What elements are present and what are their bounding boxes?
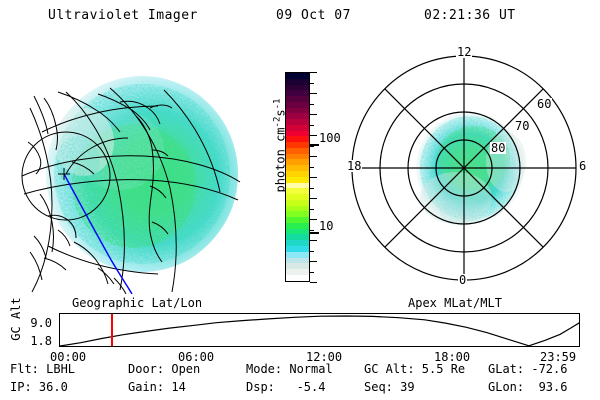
colorbar-tick [310,209,314,210]
colorbar-label-1: 10 [319,226,333,227]
status-glat: GLat: -72.6 [488,362,567,376]
mlt-label-12: 12 [456,46,472,58]
globe-svg [14,46,242,294]
status-flt: Flt: LBHL [10,362,75,376]
colorbar-tick [310,219,317,220]
colorbar-tick [310,282,317,283]
colorbar-title-exp1: -2 [273,117,283,128]
colorbar-tick [310,198,317,199]
colorbar-tick [310,240,317,241]
geographic-image-panel[interactable] [14,46,242,294]
apex-polar-panel[interactable]: 12 6 0 18 60 70 80 [338,42,596,296]
status-ip: IP: 36.0 [10,380,68,394]
colorbar-tick [310,156,317,157]
status-mode: Mode: Normal [246,362,333,376]
orbit-altitude-panel[interactable]: GC Alt 9.0 1.8 Geographic Lat/Lon Apex M… [0,296,600,358]
observation-time: 02:21:36 UT [424,8,516,23]
status-footer: Flt: LBHL Door: Open Mode: Normal GC Alt… [0,362,600,400]
colorbar-tick [310,261,317,262]
colorbar-band-35 [286,275,309,281]
polar-svg [338,42,596,296]
colorbar-major-tick [310,232,319,234]
mlat-label-80: 80 [490,142,506,154]
colorbar-tick [310,230,314,231]
colorbar-tick [310,135,317,136]
colorbar-tick [310,93,317,94]
observation-date: 09 Oct 07 [276,8,351,23]
status-dsp: Dsp: -5.4 [246,380,325,394]
mlat-label-60: 60 [536,98,552,110]
status-gcalt: GC Alt: 5.5 Re [364,362,465,376]
colorbar-tick [310,114,317,115]
mlt-label-0: 0 [458,274,467,286]
orbit-ytick-low: 1.8 [20,334,52,348]
globe-clip [14,46,242,294]
colorbar-tick [310,83,314,84]
colorbar-tick [310,167,314,168]
orbit-ytick-high: 9.0 [20,316,52,330]
mlt-label-6: 6 [578,160,587,172]
mlat-label-70: 70 [514,120,530,132]
colorbar-gradient[interactable] [285,72,310,282]
colorbar-tick [310,72,317,73]
colorbar-tick [310,177,317,178]
colorbar-tick [310,104,314,105]
colorbar-tick [310,272,314,273]
orbit-track-svg [60,314,580,347]
colorbar-tick [310,188,314,189]
polar-caption: Apex MLat/MLT [408,296,502,310]
globe-caption: Geographic Lat/Lon [72,296,202,310]
colorbar-tick [310,125,314,126]
mlt-label-18: 18 [346,160,362,172]
instrument-title: Ultraviolet Imager [48,8,198,23]
status-gain: Gain: 14 [128,380,186,394]
auroral-oval [416,112,526,226]
colorbar-title-exp2: -1 [273,99,283,110]
current-time-marker [111,314,113,346]
mlt-spokes [352,56,576,280]
status-door: Door: Open [128,362,200,376]
orbit-plot-box[interactable] [59,313,580,347]
colorbar-major-tick [310,144,319,146]
colorbar-tick [310,251,314,252]
status-seq: Seq: 39 [364,380,415,394]
status-glon: GLon: 93.6 [488,380,567,394]
